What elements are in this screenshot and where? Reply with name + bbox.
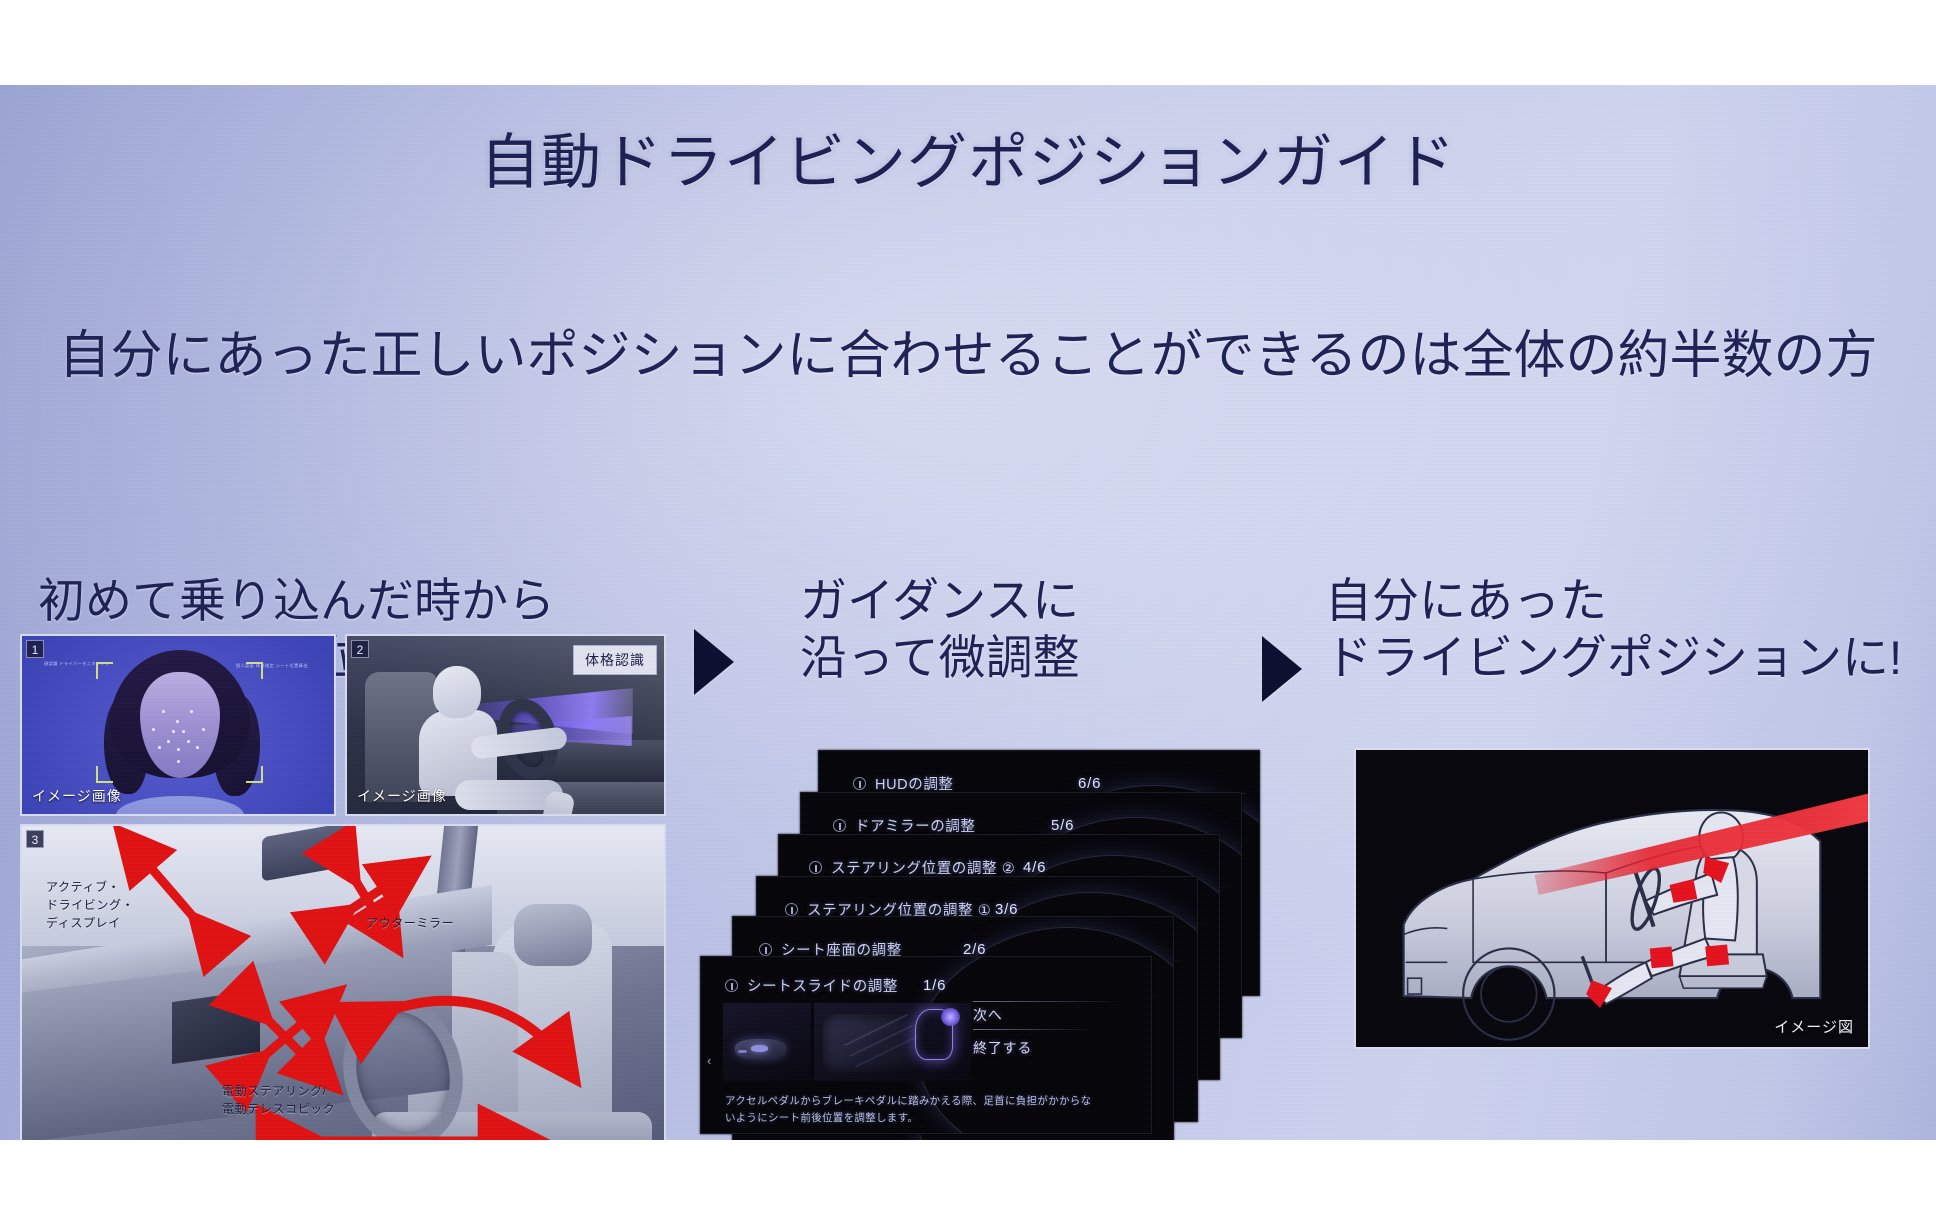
hmi-step-1: 1/6 bbox=[923, 977, 946, 994]
info-icon-6 bbox=[853, 777, 866, 790]
info-icon-2 bbox=[759, 943, 772, 956]
next-button[interactable]: 次へ bbox=[973, 1005, 1032, 1025]
photo-face-recognition: 顔認識 ドライバーモニタリング 個人認証 体格推定 シート位置算出 1 イメージ… bbox=[20, 634, 336, 816]
back-chevron-icon[interactable]: ‹ bbox=[707, 1053, 711, 1068]
presentation-slide: 自動ドライビングポジションガイド 自分にあった正しいポジションに合わせることがで… bbox=[0, 85, 1936, 1140]
play-arrow-icon-1 bbox=[694, 629, 734, 695]
column-heading-2: ガイダンスに 沿って微調整 bbox=[800, 572, 1080, 687]
hmi-card-seat-slide[interactable]: シートスライドの調整 1/6 ‹ 次へ 終了する アクセルペダルからブレーキペダ… bbox=[700, 956, 1152, 1134]
face-bracket-br bbox=[246, 766, 263, 783]
image-caption-1: イメージ画像 bbox=[32, 786, 122, 806]
photo-body-recognition: 2 体格認識 イメージ画像 bbox=[345, 634, 666, 816]
hmi-label-1: シートスライドの調整 bbox=[747, 975, 898, 996]
label-active-driving-display: アクティブ・ ドライビング・ ディスプレイ bbox=[46, 878, 134, 932]
photo-cockpit-adjustments: アクティブ・ ドライビング・ ディスプレイ アウターミラー 電動ステアリング/ … bbox=[20, 824, 666, 1140]
hmi-screen-stack: HUDの調整 6/6 ドアミラーの調整 5/6 ステアリング位置の調整 ② 4/… bbox=[700, 750, 1260, 1140]
seat-slide-thumbnail bbox=[814, 1003, 971, 1081]
panel-number-badge-2: 2 bbox=[351, 640, 369, 658]
image-caption-diagram: イメージ図 bbox=[1774, 1016, 1854, 1037]
face-bracket-bl bbox=[96, 766, 113, 783]
hmi-step-4: 4/6 bbox=[1023, 859, 1046, 876]
page-title: 自動ドライビングポジションガイド bbox=[0, 130, 1936, 196]
info-icon-3 bbox=[785, 903, 798, 916]
left-image-block: 顔認識 ドライバーモニタリング 個人認証 体格推定 シート位置算出 1 イメージ… bbox=[20, 634, 666, 1140]
bottom-white-band bbox=[0, 1140, 1936, 1210]
info-icon-5 bbox=[833, 819, 846, 832]
hmi-action-buttons: 次へ 終了する bbox=[973, 1005, 1032, 1071]
photo-driving-position-diagram: イメージ図 bbox=[1354, 748, 1870, 1049]
info-icon-1 bbox=[725, 979, 738, 992]
hud-text-left: 顔認識 ドライバーモニタリング bbox=[44, 660, 124, 668]
label-outer-mirror: アウターミラー bbox=[366, 914, 454, 932]
panel-number-badge-3: 3 bbox=[26, 830, 44, 848]
slide-subtitle: 自分にあった正しいポジションに合わせることができるのは全体の約半数の方 bbox=[0, 328, 1936, 385]
hmi-label-5: ドアミラーの調整 bbox=[855, 815, 976, 836]
hmi-explanatory-caption: アクセルペダルからブレーキペダルに踏みかえる際、足首に負担がかからないようにシー… bbox=[725, 1093, 1094, 1127]
top-white-band bbox=[0, 0, 1936, 85]
hmi-step-6: 6/6 bbox=[1078, 775, 1101, 792]
hmi-illustration-thumbnails bbox=[723, 1003, 971, 1081]
body-recognition-badge: 体格認識 bbox=[573, 645, 657, 675]
panel-number-badge-1: 1 bbox=[26, 640, 44, 658]
image-caption-2: イメージ画像 bbox=[357, 786, 447, 806]
label-power-steering: 電動ステアリング/ 電動テレスコピック bbox=[222, 1082, 335, 1118]
hmi-step-5: 5/6 bbox=[1051, 817, 1074, 834]
column-heading-3: 自分にあった ドライビングポジションに! bbox=[1325, 572, 1902, 687]
car-cutaway-illustration bbox=[1356, 750, 1868, 1049]
hud-text-right: 個人認証 体格推定 シート位置算出 bbox=[236, 662, 314, 670]
exit-button[interactable]: 終了する bbox=[973, 1038, 1032, 1058]
play-arrow-icon-2 bbox=[1262, 636, 1302, 702]
hmi-label-4: ステアリング位置の調整 ② bbox=[831, 857, 1015, 878]
hmi-label-6: HUDの調整 bbox=[875, 773, 954, 794]
pedal-thumbnail bbox=[723, 1003, 811, 1081]
info-icon-4 bbox=[809, 861, 822, 874]
driver-face-illustration bbox=[110, 650, 250, 816]
